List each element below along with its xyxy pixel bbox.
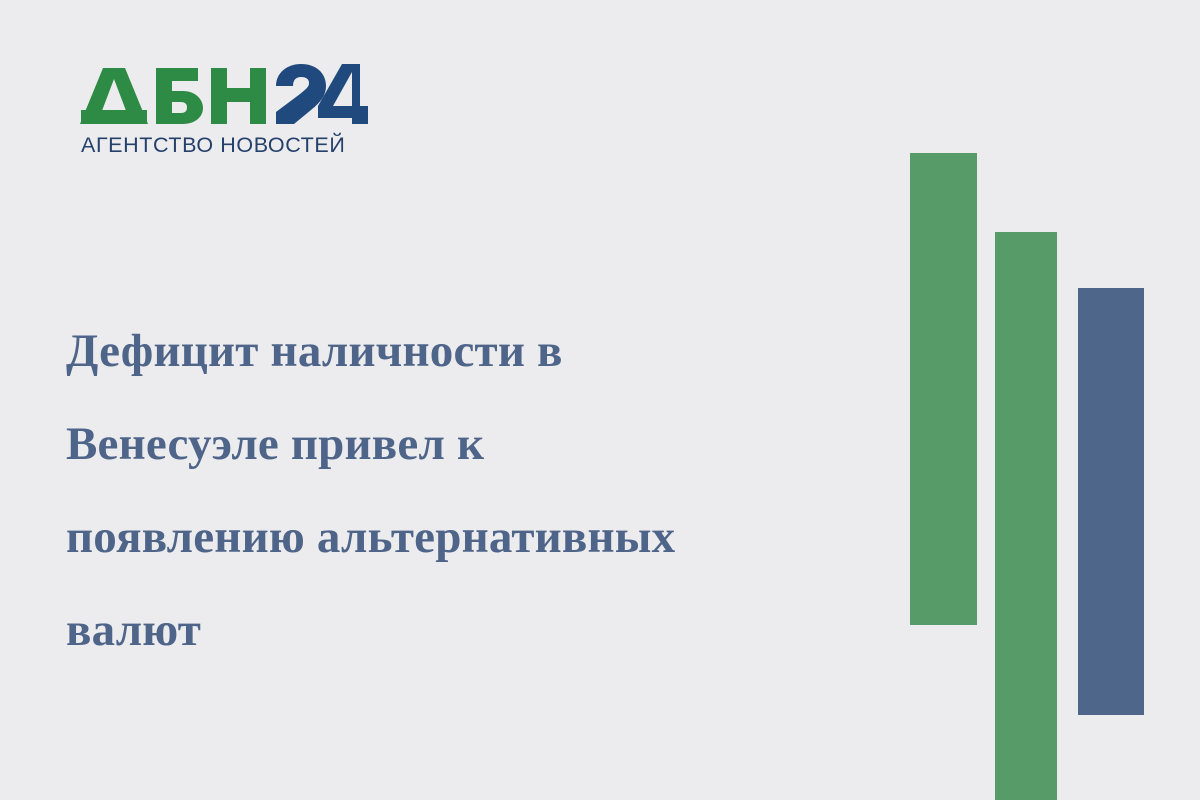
headline: Дефицит наличности вВенесуэле привел кпо… (66, 305, 886, 677)
headline-line: Венесуэле привел к (66, 398, 886, 491)
logo-letter-en-icon (211, 68, 266, 124)
decorative-bar-3 (1078, 288, 1144, 715)
abn24-logo[interactable]: АГЕНТСТВО НОВОСТЕЙ (80, 62, 370, 157)
logo-letter-be-icon (156, 68, 203, 124)
logo-digit-four-icon (318, 64, 368, 124)
logo-tagline-text: АГЕНТСТВО НОВОСТЕЙ (81, 132, 345, 157)
headline-line: валют (66, 584, 886, 677)
decorative-bar-1 (910, 153, 977, 625)
abn24-logo-graphic: АГЕНТСТВО НОВОСТЕЙ (80, 62, 370, 157)
decorative-bar-2 (995, 232, 1057, 800)
logo-letter-a-icon (80, 68, 148, 124)
news-card: АГЕНТСТВО НОВОСТЕЙ Дефицит наличности вВ… (0, 0, 1200, 800)
headline-line: Дефицит наличности в (66, 305, 886, 398)
headline-line: появлению альтернативных (66, 491, 886, 584)
